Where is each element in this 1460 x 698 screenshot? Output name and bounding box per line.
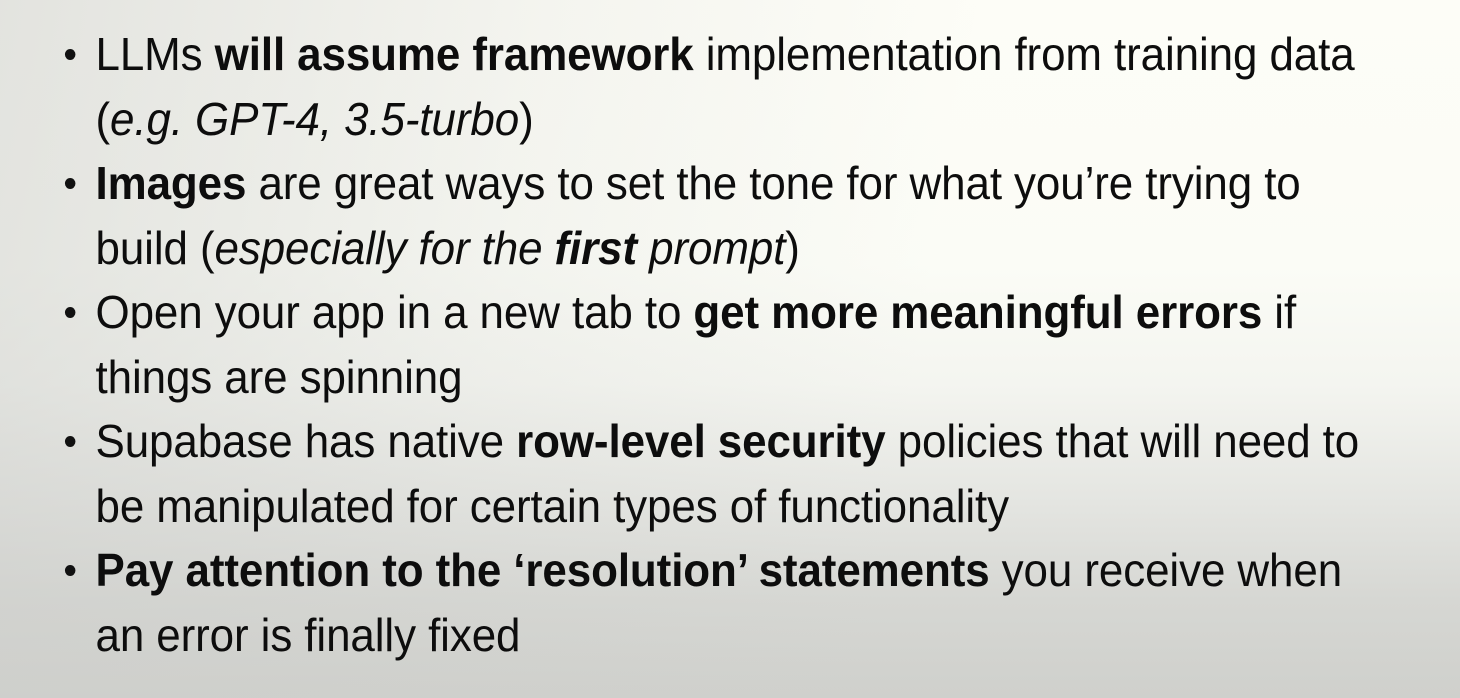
list-item: Images are great ways to set the tone fo… (0, 151, 1394, 280)
bullet-point-icon (65, 307, 76, 318)
bullet-text: Pay attention to the ‘resolution’ statem… (96, 544, 1343, 661)
bullet-text: Images are great ways to set the tone fo… (96, 157, 1301, 274)
list-item: LLMs will assume framework implementatio… (0, 22, 1394, 151)
bullet-point-icon (65, 565, 76, 576)
slide-canvas: LLMs will assume framework implementatio… (0, 0, 1460, 698)
bullet-text: LLMs will assume framework implementatio… (96, 28, 1355, 145)
list-item: Pay attention to the ‘resolution’ statem… (0, 538, 1394, 667)
bullet-text: Supabase has native row-level security p… (96, 415, 1360, 532)
list-item: Open your app in a new tab to get more m… (0, 280, 1394, 409)
bullet-point-icon (65, 178, 76, 189)
bullet-point-icon (65, 436, 76, 447)
bullet-point-icon (65, 49, 76, 60)
bullet-list: LLMs will assume framework implementatio… (0, 22, 1460, 667)
bullet-text: Open your app in a new tab to get more m… (96, 286, 1297, 403)
list-item: Supabase has native row-level security p… (0, 409, 1394, 538)
